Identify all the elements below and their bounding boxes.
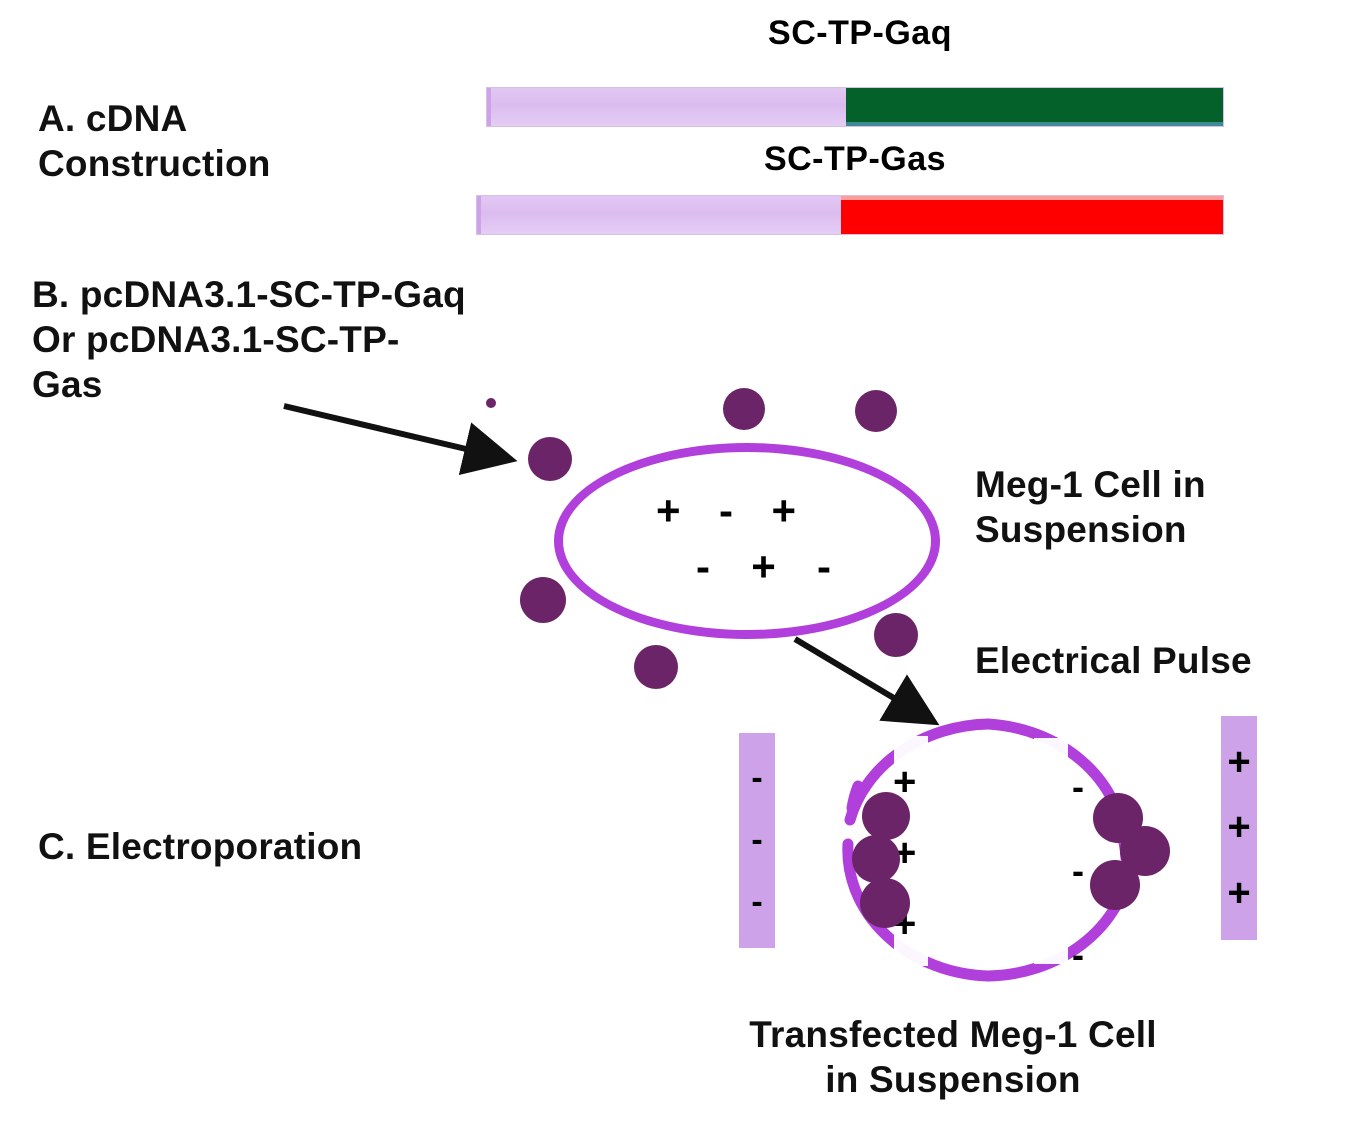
electrode-right-charge-1: + — [1227, 740, 1250, 785]
charge-top-1: + — [656, 487, 681, 535]
inner-right-charge-2: - — [1072, 850, 1084, 892]
plasmid-dot-left-upper — [528, 437, 572, 481]
construct-label-gas: SC-TP-Gas — [485, 140, 1225, 179]
charge-top-3: + — [771, 487, 796, 535]
panel-c-heading: C. Electroporation — [38, 824, 362, 869]
panel-b-heading: B. pcDNA3.1-SC-TP-Gaq Or pcDNA3.1-SC-TP-… — [32, 272, 632, 407]
electrode-positive: + + + — [1221, 716, 1257, 940]
plasmid-dot-top-right — [855, 390, 897, 432]
meg1-cell-membrane — [554, 443, 940, 639]
construct-bar-gas — [477, 196, 1223, 234]
construct-bar-gaq — [487, 88, 1223, 126]
electrode-negative: - - - — [739, 733, 775, 948]
electrode-right-charge-2: + — [1227, 805, 1250, 850]
construct-segment-sctp-gas — [477, 196, 841, 234]
transfected-dot-left-1 — [862, 792, 910, 840]
electrode-left-charge-1: - — [751, 759, 762, 798]
construct-label-gaq: SC-TP-Gaq — [490, 14, 1230, 53]
electrode-right-charge-3: + — [1227, 871, 1250, 916]
charge-bottom-1: - — [696, 543, 710, 591]
transfected-dot-left-3 — [860, 878, 910, 928]
charge-bottom-3: - — [817, 543, 831, 591]
meg1-cell-label: Meg-1 Cell in Suspension — [975, 462, 1206, 552]
plasmid-dot-top-left — [723, 388, 765, 430]
transfected-dot-left-2 — [852, 835, 900, 883]
membrane-pore-right — [1034, 738, 1068, 964]
charge-bottom-2: + — [751, 543, 776, 591]
electrode-left-charge-2: - — [751, 821, 762, 860]
transfected-inner-charges-right: - - - — [1072, 766, 1084, 976]
panel-a-heading: A. cDNA Construction — [38, 96, 271, 186]
construct-segment-sctp-gaq — [487, 88, 846, 126]
charge-top-2: - — [719, 487, 733, 535]
plasmid-dot-left-lower — [520, 577, 566, 623]
plasmid-dot-bottom — [634, 645, 678, 689]
cell-charges-top-row: + - + — [656, 487, 796, 535]
construct-segment-gaq — [846, 88, 1223, 126]
inner-right-charge-3: - — [1072, 934, 1084, 976]
electrode-left-charge-3: - — [751, 883, 762, 922]
electrical-pulse-label: Electrical Pulse — [975, 638, 1252, 683]
inner-right-charge-1: - — [1072, 766, 1084, 808]
transfected-dot-right-3 — [1090, 860, 1140, 910]
cell-charges-bottom-row: - + - — [696, 543, 831, 591]
construct-segment-gas — [841, 196, 1223, 234]
plasmid-dot-far-left — [486, 398, 496, 408]
transfected-cell-caption: Transfected Meg-1 Cell in Suspension — [613, 1012, 1293, 1102]
